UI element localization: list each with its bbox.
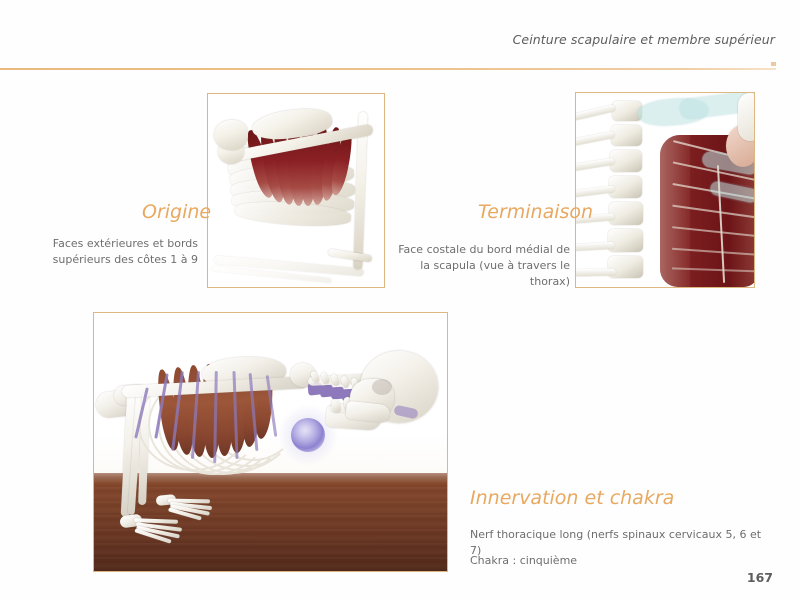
page-number: 167 [747,570,773,585]
innervation-chakra-text: Chakra : cinquième [470,553,770,569]
running-header: Ceinture scapulaire et membre supérieur [513,32,775,47]
insertion-heading: Terminaison [478,201,593,223]
figure-action-skeleton-plank [93,312,448,572]
header-rule [0,68,776,70]
figure-origin-serratus-lateral [207,93,385,288]
origin-heading: Origine [142,201,211,223]
insertion-body-text: Face costale du bord médial de la scapul… [395,242,570,290]
origin-body-text: Faces extérieures et bords supérieurs de… [28,236,198,268]
figure-action-canvas [94,313,447,571]
innervation-heading: Innervation et chakra [470,487,674,509]
page-canvas: Ceinture scapulaire et membre supérieur [0,0,800,600]
header-rule-end-tick [771,62,776,66]
figure-insertion-through-thorax [575,92,755,288]
figure-insertion-canvas [576,93,754,287]
figure-origin-canvas [208,94,384,287]
chakra-orb-fifth [291,418,325,452]
